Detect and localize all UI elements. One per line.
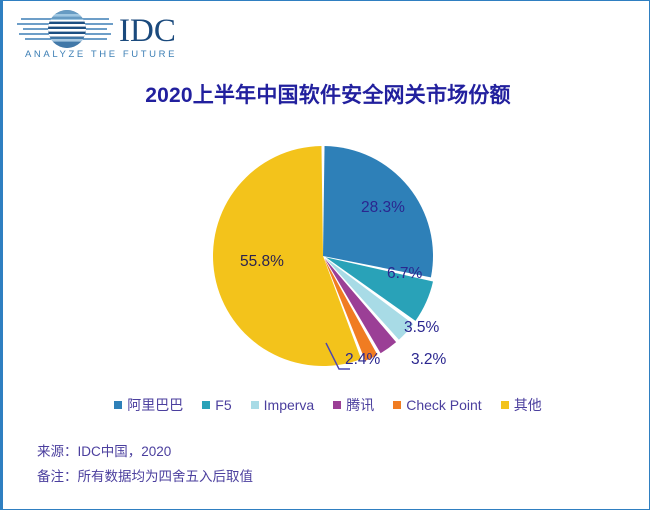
slice-percentage-label: 55.8% [240,253,284,271]
pie-chart: 28.3%6.7%3.5%3.2%2.4%55.8% [3,131,650,386]
idc-logo: IDC ANALYZE THE FUTURE [17,7,207,61]
slice-percentage-label: 3.2% [411,351,446,369]
pie-graphic: 28.3%6.7%3.5%3.2%2.4%55.8% [198,131,448,381]
legend-swatch-icon [393,401,401,409]
chart-legend: 阿里巴巴F5Imperva腾讯Check Point其他 [3,395,650,415]
idc-wordmark: IDC [119,13,176,49]
legend-item[interactable]: Check Point [393,397,481,413]
slice-percentage-label: 2.4% [345,351,380,369]
chart-card: IDC ANALYZE THE FUTURE 2020上半年中国软件安全网关市场… [0,0,650,510]
legend-item[interactable]: 阿里巴巴 [114,395,183,415]
note-line: 备注：所有数据均为四舍五入后取值 [37,464,597,489]
legend-item[interactable]: 其他 [501,395,542,415]
slice-percentage-label: 3.5% [404,319,439,337]
source-line: 来源：IDC中国，2020 [37,439,597,464]
legend-item[interactable]: F5 [202,397,231,413]
pie-slices [198,131,448,381]
idc-tagline: ANALYZE THE FUTURE [25,49,177,60]
legend-label: 阿里巴巴 [127,395,183,415]
legend-swatch-icon [202,401,210,409]
legend-label: Check Point [406,397,481,413]
legend-swatch-icon [114,401,122,409]
chart-title: 2020上半年中国软件安全网关市场份额 [3,79,650,109]
legend-item[interactable]: 腾讯 [333,395,374,415]
legend-item[interactable]: Imperva [251,397,315,413]
legend-label: F5 [215,397,231,413]
legend-swatch-icon [251,401,259,409]
legend-swatch-icon [333,401,341,409]
slice-percentage-label: 28.3% [361,199,405,217]
idc-striped-sphere-logo-icon: IDC ANALYZE THE FUTURE [17,7,207,61]
legend-label: 腾讯 [346,395,374,415]
slice-percentage-label: 6.7% [387,265,422,283]
legend-label: 其他 [514,395,542,415]
legend-swatch-icon [501,401,509,409]
chart-footnotes: 来源：IDC中国，2020 备注：所有数据均为四舍五入后取值 [37,439,597,489]
legend-label: Imperva [264,397,315,413]
